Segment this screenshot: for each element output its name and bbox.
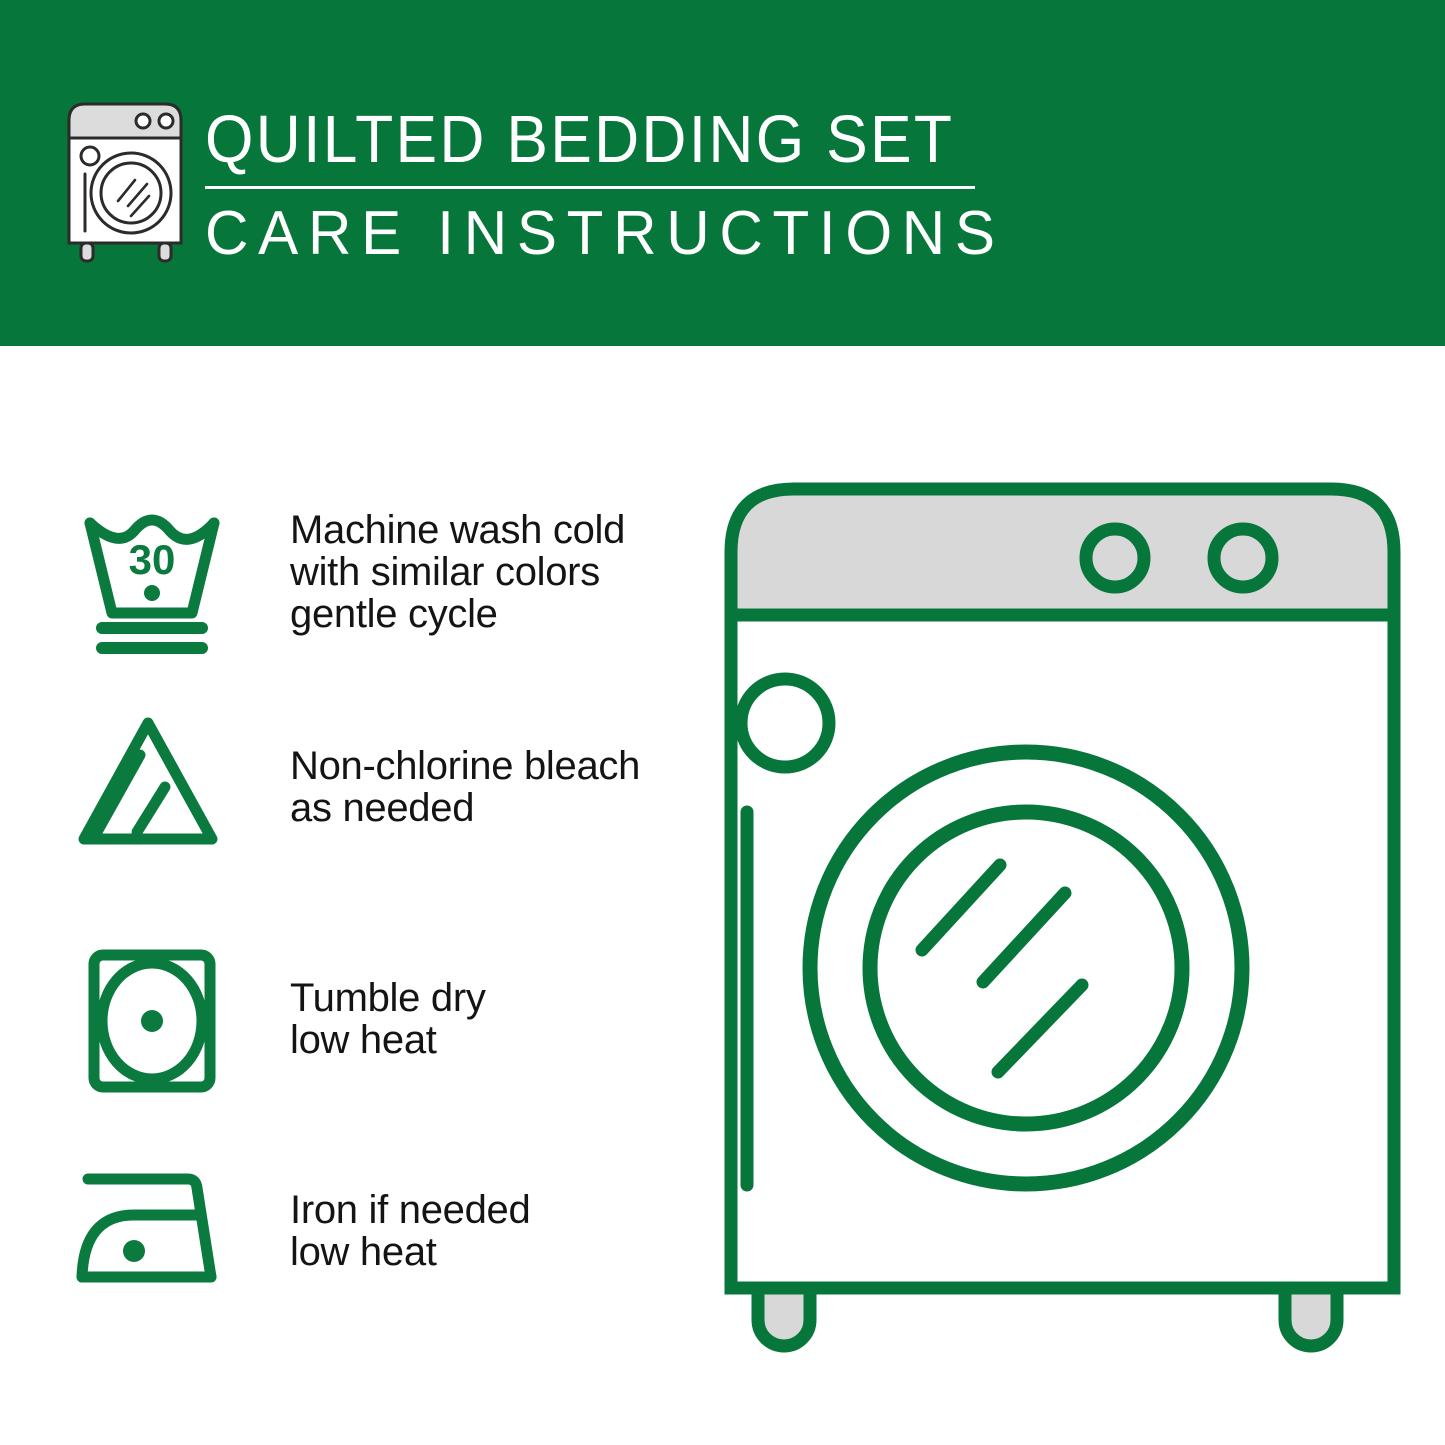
care-text: Iron if needed low heat [290, 1189, 530, 1273]
page-subtitle: CARE INSTRUCTIONS [205, 199, 971, 269]
care-text: Tumble dry low heat [290, 977, 486, 1061]
care-text-line: as needed [290, 787, 640, 829]
washing-machine-logo-icon [63, 98, 191, 266]
front-load-washing-machine-illustration [700, 440, 1445, 1390]
title-divider [205, 186, 975, 189]
wash-temperature-label: 30 [129, 536, 176, 583]
header-banner: QUILTED BEDDING SET CARE INSTRUCTIONS [0, 0, 1445, 346]
care-text-line: Machine wash cold [290, 509, 625, 551]
care-text-line: low heat [290, 1019, 486, 1061]
page-title: QUILTED BEDDING SET [205, 100, 940, 180]
care-instructions-page: QUILTED BEDDING SET CARE INSTRUCTIONS [0, 0, 1445, 1445]
door-inner-ring [870, 812, 1182, 1124]
care-instruction-list: 30 Machine wash cold with similar colors… [0, 346, 700, 1445]
control-knob [1086, 529, 1144, 587]
wash-tub-30-icon: 30 [72, 501, 232, 661]
care-text-line: Non-chlorine bleach [290, 745, 640, 787]
header-text-block: QUILTED BEDDING SET CARE INSTRUCTIONS [205, 100, 995, 269]
care-text-line: Iron if needed [290, 1189, 530, 1231]
tumble-dry-low-heat-icon [72, 941, 232, 1101]
non-chlorine-bleach-triangle-icon [72, 709, 232, 869]
care-text-line: gentle cycle [290, 593, 625, 635]
detergent-button [741, 679, 829, 767]
care-text-line: Tumble dry [290, 977, 486, 1019]
control-knob [1214, 529, 1272, 587]
care-text-line: low heat [290, 1231, 530, 1273]
care-text-line: with similar colors [290, 551, 625, 593]
control-panel [731, 489, 1394, 615]
care-text: Non-chlorine bleach as needed [290, 745, 640, 829]
iron-low-heat-icon [72, 1159, 232, 1319]
care-text: Machine wash cold with similar colors ge… [290, 509, 625, 635]
